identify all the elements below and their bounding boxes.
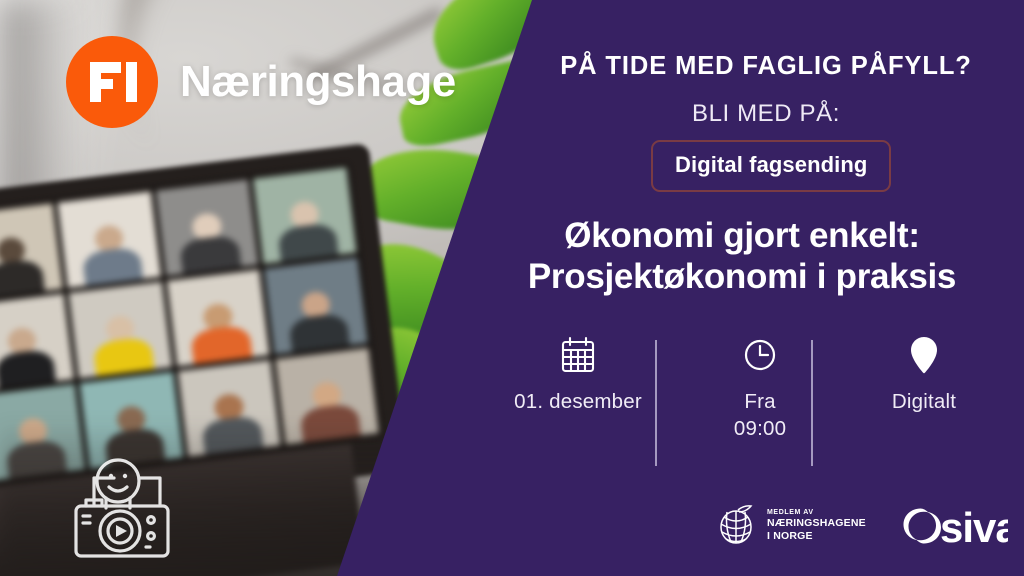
naeringshagene-i-norge-logo[interactable]: MEDLEM AV NÆRINGSHAGENE I NORGE <box>716 500 866 551</box>
title-line-1: Økonomi gjort enkelt: <box>478 216 1006 257</box>
video-tile <box>0 294 74 391</box>
video-tile <box>166 270 270 367</box>
location-pin-icon <box>909 334 939 376</box>
video-tile <box>68 282 172 379</box>
event-time: Fra 09:00 <box>678 334 842 442</box>
kicker-headline: PÅ TIDE MED FAGLIG PÅFYLL? <box>536 52 996 81</box>
siva-swirl-icon <box>903 508 941 543</box>
nhn-line-2: NÆRINGSHAGENE <box>767 517 866 529</box>
event-location-label: Digitalt <box>892 388 956 415</box>
video-tile <box>264 258 368 355</box>
siva-wordmark: siva <box>940 504 1008 550</box>
calendar-icon <box>560 334 596 376</box>
partner-logos: MEDLEM AV NÆRINGSHAGENE I NORGE siva <box>716 500 1008 551</box>
video-tile <box>155 179 259 276</box>
event-location: Digitalt <box>842 334 1006 415</box>
event-details-row: 01. desember Fra 09:00 Digitalt <box>478 334 1006 466</box>
brand-name: Næringshage <box>180 57 456 107</box>
title-line-2: Prosjektøkonomi i praksis <box>478 257 1006 298</box>
video-tile <box>253 167 357 264</box>
page-title: Økonomi gjort enkelt: Prosjektøkonomi i … <box>478 216 1006 298</box>
pine-cone-icon <box>716 500 758 551</box>
format-badge[interactable]: Digital fagsending <box>651 140 891 192</box>
brand-logo[interactable]: Næringshage <box>66 36 456 128</box>
event-time-label: Fra 09:00 <box>734 388 786 442</box>
sub-kicker: BLI MED PÅ: <box>536 100 996 128</box>
event-date: 01. desember <box>478 334 678 415</box>
info-divider <box>655 340 657 466</box>
nhn-line-1: MEDLEM AV <box>767 509 866 517</box>
fi-monogram-icon <box>66 36 158 128</box>
siva-logo[interactable]: siva <box>900 502 1008 550</box>
info-divider <box>811 340 813 466</box>
nhn-wordmark: MEDLEM AV NÆRINGSHAGENE I NORGE <box>767 509 866 542</box>
video-tile <box>0 203 63 300</box>
camera-smiley-play-icon <box>68 448 186 566</box>
video-tile <box>57 191 161 288</box>
event-date-label: 01. desember <box>514 388 642 415</box>
nhn-line-3: I NORGE <box>767 530 866 542</box>
clock-icon <box>742 334 778 376</box>
event-poster: Næringshage <box>0 0 1024 576</box>
